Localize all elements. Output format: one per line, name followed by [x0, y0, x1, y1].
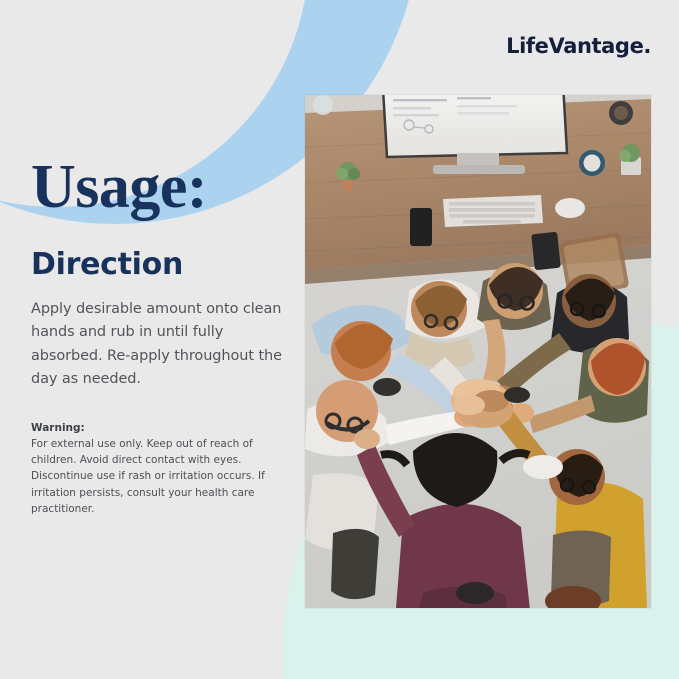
section-heading-direction: Direction: [31, 247, 299, 282]
warning-label: Warning:: [31, 422, 299, 434]
lifestyle-photo: [305, 95, 651, 608]
brand-logo-text: LifeVantage: [506, 34, 643, 58]
page-title: Usage:: [31, 158, 299, 217]
product-detail-card: LifeVantage. Usage: Direction Apply desi…: [0, 0, 679, 679]
direction-instructions: Apply desirable amount onto clean hands …: [31, 298, 299, 392]
warning-text: For external use only. Keep out of reach…: [31, 436, 297, 517]
brand-logo: LifeVantage.: [506, 34, 651, 58]
usage-text-column: Usage: Direction Apply desirable amount …: [31, 158, 299, 517]
lifestyle-photo-illustration: [305, 95, 651, 608]
brand-logo-mark: .: [643, 34, 651, 58]
